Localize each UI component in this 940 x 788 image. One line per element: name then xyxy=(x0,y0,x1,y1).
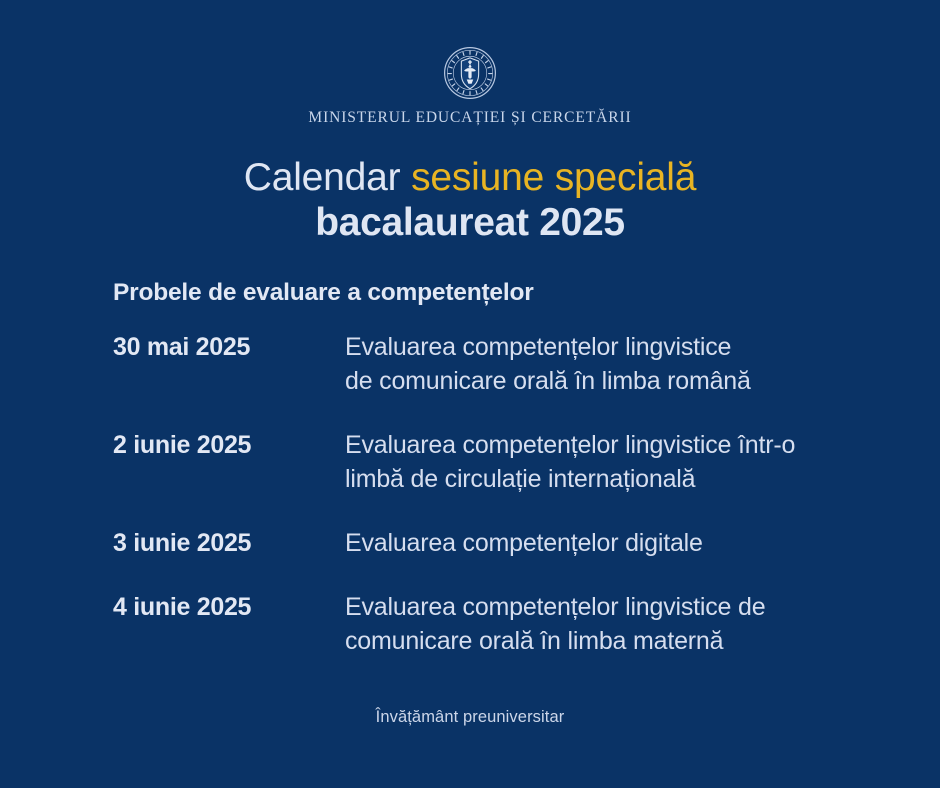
title-line-1-accent: sesiune specială xyxy=(411,156,696,199)
schedule-row-description-line-2: comunicare orală în limba maternă xyxy=(345,624,913,658)
schedule-row-description: Evaluarea competențelor lingvistice de c… xyxy=(345,590,913,658)
schedule-row-description-line-1: Evaluarea competențelor lingvistice xyxy=(345,330,913,364)
schedule-row: 30 mai 2025 Evaluarea competențelor ling… xyxy=(113,330,913,398)
schedule-row-date: 2 iunie 2025 xyxy=(113,428,345,462)
schedule-row-date: 3 iunie 2025 xyxy=(113,526,345,560)
page-title: Calendar sesiune specială bacalaureat 20… xyxy=(0,155,940,245)
ministry-brand-header: MINISTERUL EDUCAȚIEI ȘI CERCETĂRII xyxy=(0,46,940,127)
schedule-row: 2 iunie 2025 Evaluarea competențelor lin… xyxy=(113,428,913,496)
section-heading: Probele de evaluare a competențelor xyxy=(113,279,534,307)
footer-note: Învățământ preuniversitar xyxy=(0,708,940,727)
schedule-row: 3 iunie 2025 Evaluarea competențelor dig… xyxy=(113,526,913,560)
schedule-row-description-line-1: Evaluarea competențelor digitale xyxy=(345,526,913,560)
schedule-row-description: Evaluarea competențelor lingvistice într… xyxy=(345,428,913,496)
ministry-name: MINISTERUL EDUCAȚIEI ȘI CERCETĂRII xyxy=(0,109,940,127)
schedule-row-description: Evaluarea competențelor lingvistice de c… xyxy=(345,330,913,398)
schedule-row-date: 4 iunie 2025 xyxy=(113,590,345,624)
schedule-row-date: 30 mai 2025 xyxy=(113,330,345,364)
schedule-row-description-line-2: de comunicare orală în limba română xyxy=(345,364,913,398)
title-line-2: bacalaureat 2025 xyxy=(0,200,940,245)
romania-coat-of-arms-seal-icon xyxy=(443,46,497,100)
title-line-1-plain: Calendar xyxy=(244,156,411,199)
schedule-row-description-line-2: limbă de circulație internațională xyxy=(345,462,913,496)
schedule-row-description: Evaluarea competențelor digitale xyxy=(345,526,913,560)
schedule-row-description-line-1: Evaluarea competențelor lingvistice de xyxy=(345,590,913,624)
title-line-1: Calendar sesiune specială xyxy=(0,155,940,200)
schedule-list: 30 mai 2025 Evaluarea competențelor ling… xyxy=(113,330,913,658)
schedule-row: 4 iunie 2025 Evaluarea competențelor lin… xyxy=(113,590,913,658)
schedule-row-description-line-1: Evaluarea competențelor lingvistice într… xyxy=(345,428,913,462)
poster-canvas: MINISTERUL EDUCAȚIEI ȘI CERCETĂRII Calen… xyxy=(0,0,940,788)
